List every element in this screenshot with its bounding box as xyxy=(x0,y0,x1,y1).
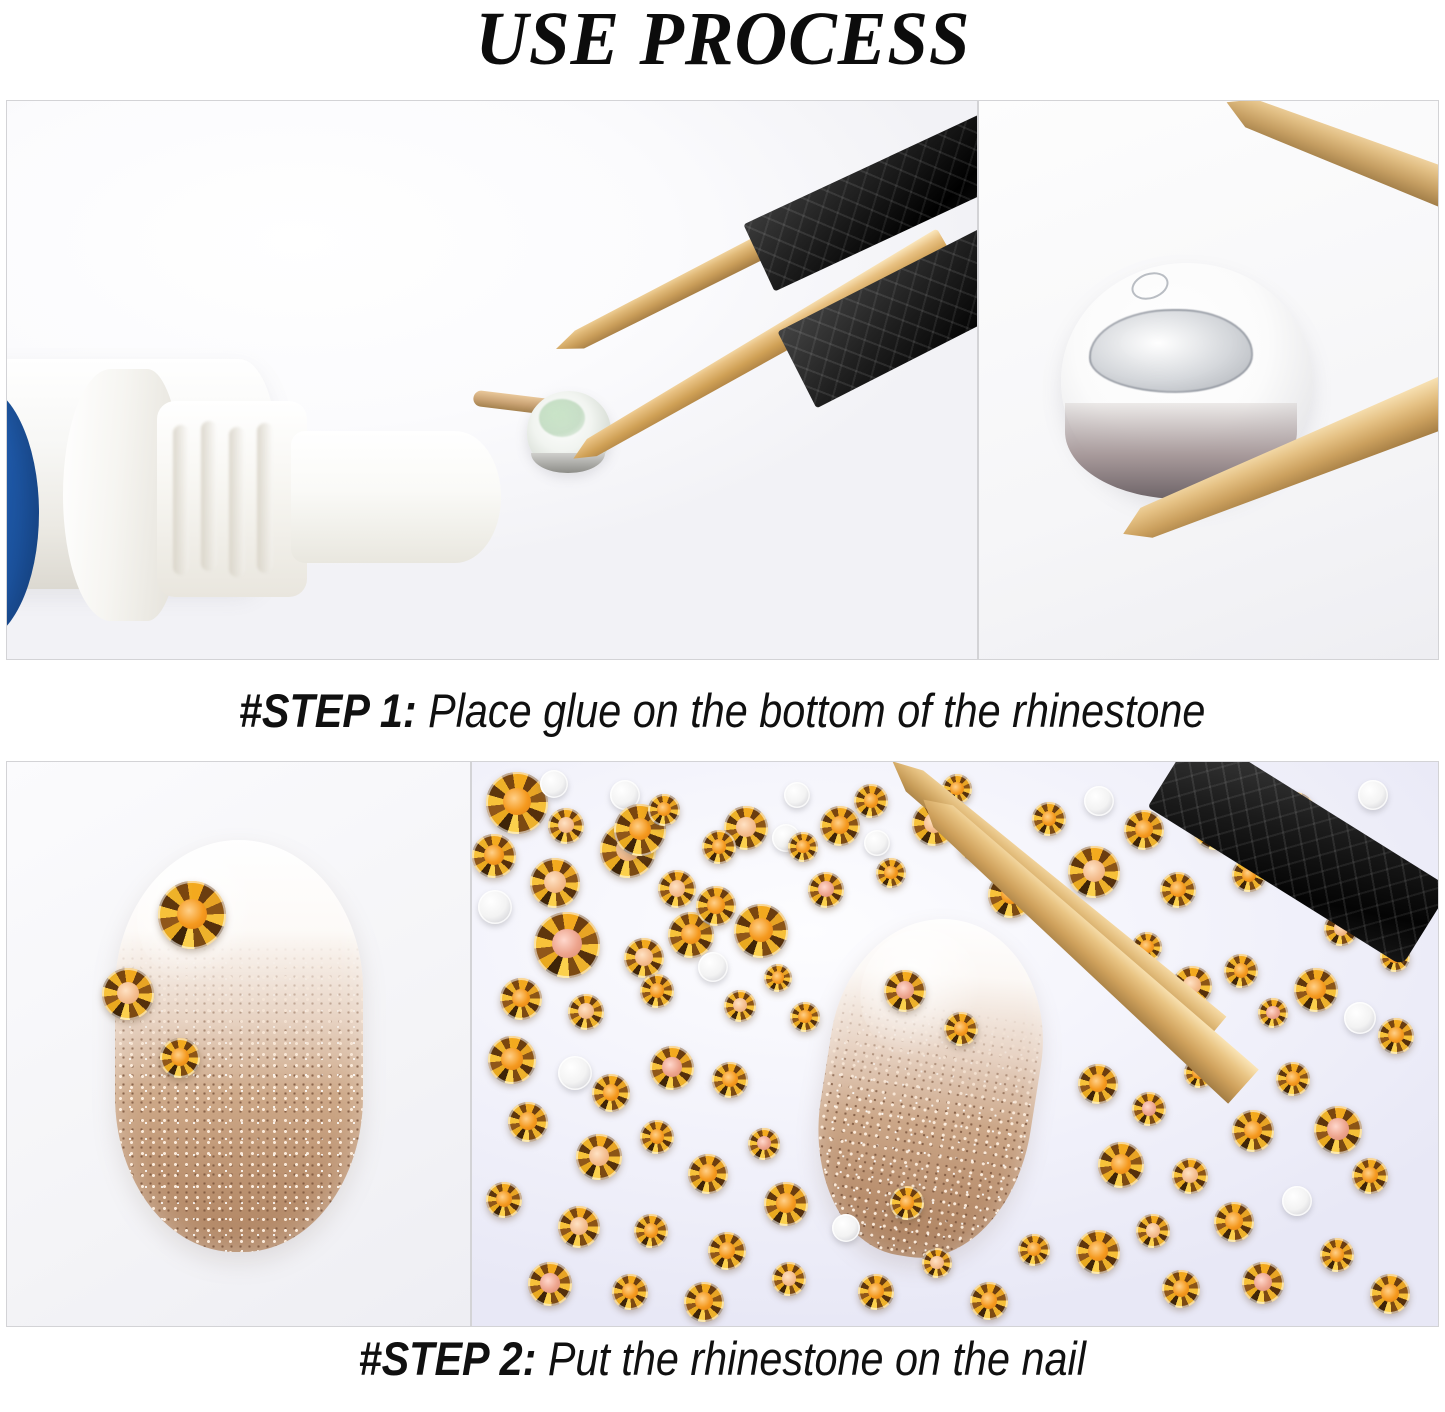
rhinestone xyxy=(576,1134,622,1180)
rhinestone xyxy=(1370,1274,1410,1314)
rhinestone xyxy=(748,1128,780,1160)
rhinestone xyxy=(702,830,736,864)
panel-glue-bottle xyxy=(6,100,978,660)
rhinestone xyxy=(1358,780,1388,810)
rhinestone xyxy=(488,1036,536,1084)
rhinestone xyxy=(592,1074,630,1112)
rhinestone xyxy=(724,990,756,1022)
rhinestone xyxy=(1172,1158,1208,1194)
rhinestone xyxy=(688,1154,728,1194)
rhinestone xyxy=(650,1046,694,1090)
step-1-image-row xyxy=(6,100,1439,660)
rhinestone xyxy=(486,772,548,834)
step-1-label: #STEP 1: xyxy=(239,684,417,737)
step-2-label: #STEP 2: xyxy=(359,1332,537,1385)
rhinestone xyxy=(640,974,674,1008)
rhinestone xyxy=(734,904,788,958)
rhinestone xyxy=(858,1274,894,1310)
rhinestone xyxy=(1098,1142,1144,1188)
rhinestone xyxy=(1378,1018,1414,1054)
rhinestone xyxy=(1282,1186,1312,1216)
rhinestone xyxy=(788,832,818,862)
rhinestone xyxy=(1352,1158,1388,1194)
rhinestone xyxy=(784,782,810,808)
rhinestone xyxy=(808,872,844,908)
rhinestone xyxy=(634,1214,668,1248)
rhinestone xyxy=(1018,1234,1050,1266)
rhinestone xyxy=(1136,1214,1170,1248)
rhinestone xyxy=(558,1206,600,1248)
rhinestone xyxy=(478,890,512,924)
rhinestone xyxy=(1344,1002,1376,1034)
rhinestone xyxy=(102,968,154,1020)
rhinestone xyxy=(1160,872,1196,908)
glue-drop xyxy=(539,399,585,437)
rhinestone xyxy=(864,830,890,856)
rhinestone xyxy=(548,808,584,844)
rhinestone xyxy=(1124,810,1164,850)
rhinestone xyxy=(160,1038,200,1078)
rhinestone xyxy=(970,1282,1008,1320)
rhinestone xyxy=(764,1182,808,1226)
rhinestone xyxy=(708,1232,746,1270)
panel-finished-nail xyxy=(6,761,471,1327)
rhinestone xyxy=(568,994,604,1030)
rhinestone xyxy=(1162,1270,1200,1308)
rhinestone xyxy=(1320,1238,1354,1272)
press-on-nail xyxy=(115,840,363,1252)
rhinestone xyxy=(1242,1262,1284,1304)
rhinestone xyxy=(820,806,860,846)
rhinestone xyxy=(658,870,696,908)
rhinestone xyxy=(832,1214,860,1242)
rhinestone xyxy=(1132,1092,1166,1126)
rhinestone xyxy=(944,1012,978,1046)
rhinestone xyxy=(698,952,728,982)
rhinestone xyxy=(1084,786,1114,816)
rhinestone xyxy=(534,912,600,978)
rhinestone xyxy=(1294,968,1338,1012)
rhinestone xyxy=(1214,1202,1254,1242)
rhinestone xyxy=(1032,802,1066,836)
rhinestone xyxy=(1276,1062,1310,1096)
rhinestone xyxy=(1068,846,1120,898)
panel-rhinestone-scatter xyxy=(471,761,1439,1327)
step-1-text: Place glue on the bottom of the rhinesto… xyxy=(417,684,1206,737)
rhinestone xyxy=(158,881,226,949)
page-title: USE PROCESS xyxy=(475,0,970,78)
step-2-image-row xyxy=(6,761,1439,1327)
rhinestone xyxy=(540,770,568,798)
rhinestone xyxy=(712,1062,748,1098)
rhinestone xyxy=(528,1262,572,1306)
rhinestone xyxy=(772,1262,806,1296)
rhinestone xyxy=(648,794,680,826)
step-1-caption: #STEP 1: Place glue on the bottom of the… xyxy=(0,660,1445,761)
rhinestone xyxy=(764,964,792,992)
glue-blob xyxy=(1089,309,1253,393)
glue-bottle-tip xyxy=(291,431,501,563)
page-header: USE PROCESS xyxy=(0,0,1445,100)
rhinestone xyxy=(854,784,888,818)
step-2-text: Put the rhinestone on the nail xyxy=(537,1332,1087,1385)
rhinestone xyxy=(472,834,516,878)
panel-stone-with-glue xyxy=(978,100,1439,660)
rhinestone xyxy=(500,978,542,1020)
rhinestone xyxy=(1076,1230,1120,1274)
rhinestone xyxy=(884,970,926,1012)
rhinestone xyxy=(922,1248,952,1278)
rhinestone xyxy=(790,1002,820,1032)
rhinestone xyxy=(876,858,906,888)
rhinestone xyxy=(486,1182,522,1218)
rhinestone xyxy=(1314,1106,1362,1154)
rhinestone xyxy=(1224,954,1258,988)
rhinestone xyxy=(1078,1064,1118,1104)
rhinestone xyxy=(684,1282,724,1322)
rhinestone xyxy=(890,1186,924,1220)
rhinestone xyxy=(696,886,736,926)
glue-bottle-neck xyxy=(157,401,307,597)
rhinestone xyxy=(508,1102,548,1142)
rhinestone xyxy=(1258,998,1288,1028)
step-2-caption: #STEP 2: Put the rhinestone on the nail xyxy=(0,1327,1445,1391)
rhinestone xyxy=(640,1120,674,1154)
rhinestone xyxy=(530,858,580,908)
rhinestone xyxy=(558,1056,592,1090)
rhinestone xyxy=(612,1274,648,1310)
rhinestone xyxy=(624,938,664,978)
rhinestone xyxy=(1232,1110,1274,1152)
